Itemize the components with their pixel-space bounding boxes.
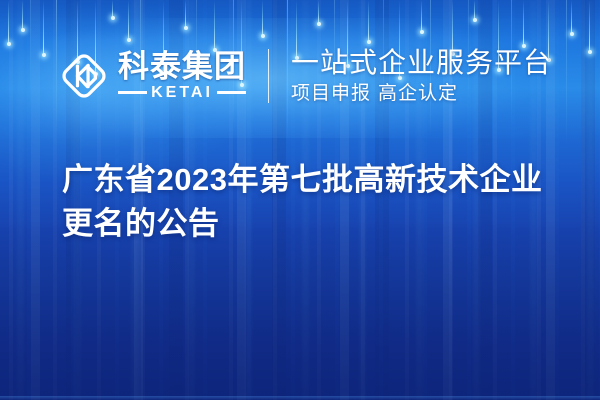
brand-banner: 科泰集团 KETAI 一站式企业服务平台 项目申报 高企认定: [0, 36, 600, 116]
light-particle: [262, 0, 263, 36]
light-particle: [185, 0, 186, 28]
logo-wordmark: 科泰集团 KETAI: [118, 51, 246, 101]
logo-english-name: KETAI: [151, 84, 213, 101]
light-particle: [474, 0, 475, 20]
bottom-highlight: [0, 396, 600, 400]
brand-logo[interactable]: 科泰集团 KETAI: [58, 50, 246, 102]
logo-rule-left: [118, 91, 147, 94]
light-particle: [112, 0, 113, 18]
ketai-diamond-monogram-icon: [58, 50, 110, 102]
logo-chinese-name: 科泰集团: [118, 51, 246, 83]
light-particle: [22, 0, 23, 30]
tagline-primary: 一站式企业服务平台: [291, 47, 552, 79]
light-particle: [128, 0, 129, 40]
poster-banner: 科泰集团 KETAI 一站式企业服务平台 项目申报 高企认定 广东省2023年第…: [0, 0, 600, 400]
logo-english-row: KETAI: [118, 84, 246, 101]
light-particle: [318, 0, 319, 24]
brand-tagline: 一站式企业服务平台 项目申报 高企认定: [291, 47, 552, 105]
logo-rule-right: [217, 91, 246, 94]
tagline-secondary: 项目申报 高企认定: [291, 81, 552, 105]
light-particle: [421, 0, 422, 32]
page-title: 广东省2023年第七批高新技术企业更名的公告: [62, 158, 567, 246]
light-particle: [571, 0, 572, 34]
banner-divider: [268, 49, 269, 103]
